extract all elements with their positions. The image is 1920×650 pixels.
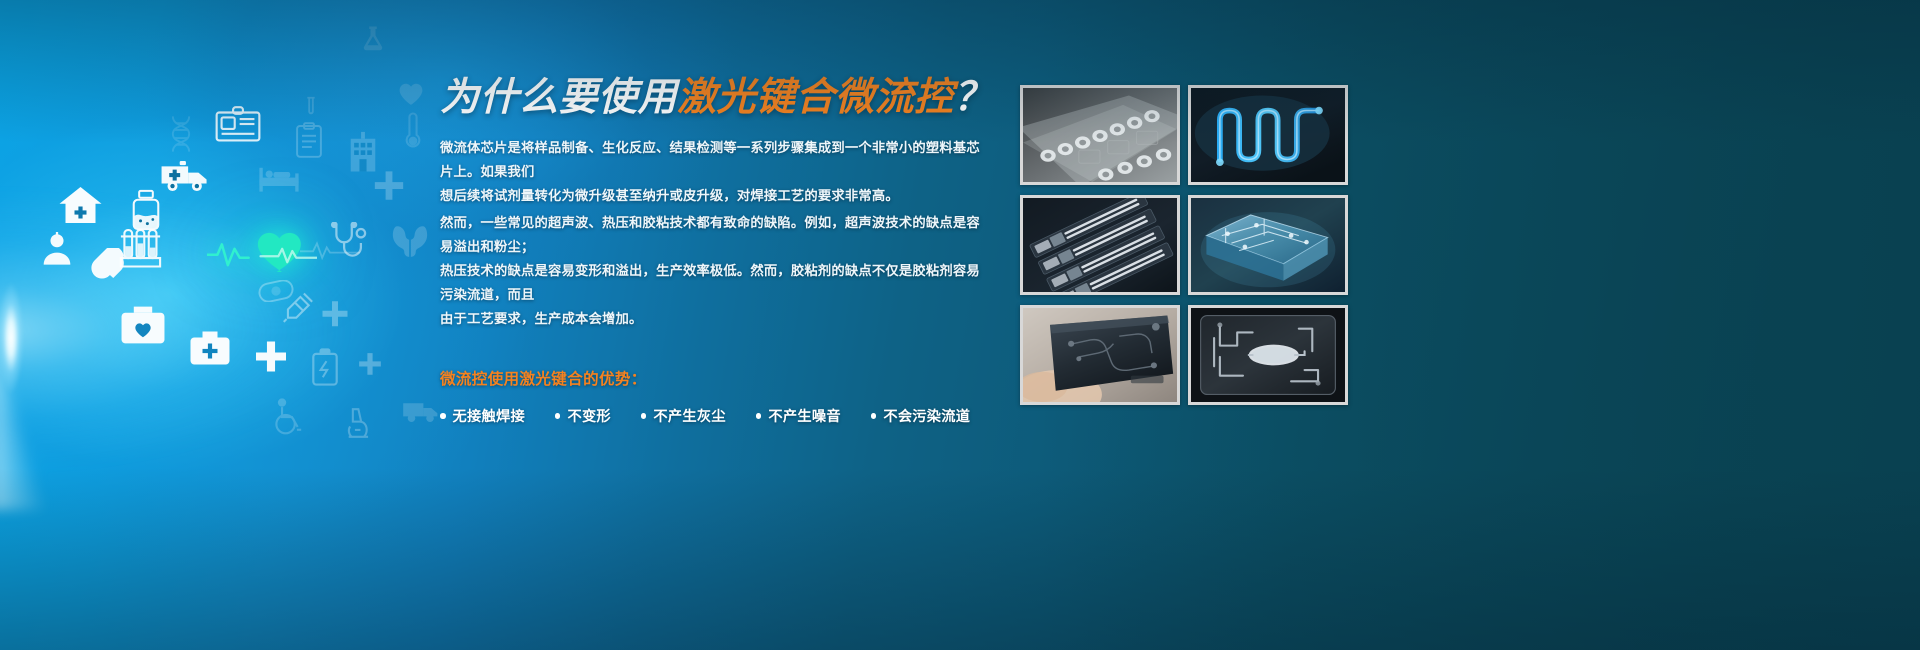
promo-banner: 为什么要使用激光键合微流控？ 微流体芯片是将样品制备、生化反应、结果检测等一系列… xyxy=(0,0,1920,650)
background-vignette xyxy=(0,0,1920,650)
